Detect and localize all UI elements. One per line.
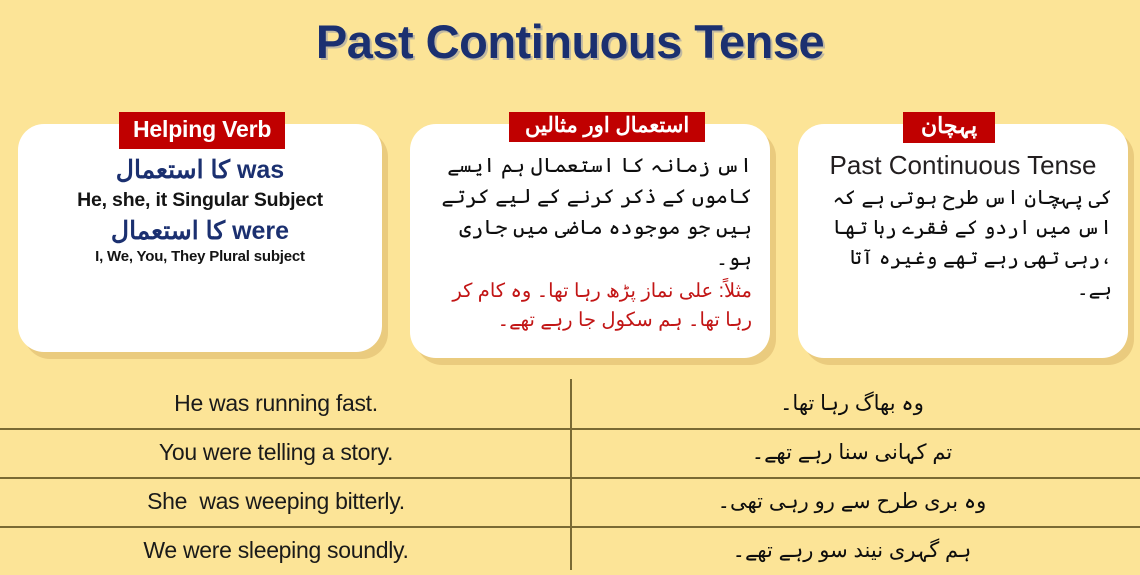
card-badge-identification: پہچان	[903, 112, 995, 143]
helping-verb-was: was	[237, 156, 284, 184]
helping-verb-was-line: was کا استعمال	[32, 156, 368, 186]
identification-description-urdu: کی پہچان اس طرح ہوتی ہے کہ اس میں اردو ک…	[814, 183, 1112, 305]
usage-description-urdu: اس زمانہ کا استعمال ہم ایسے کاموں کے ذکر…	[428, 150, 752, 275]
example-english: She was weeping bitterly.	[0, 477, 552, 526]
examples-table: He was running fast. وہ بھاگ رہا تھا۔ Yo…	[0, 379, 1140, 570]
example-english: You were telling a story.	[0, 428, 552, 477]
helping-verb-were-line: were کا استعمال	[32, 217, 368, 247]
page-title: Past Continuous Tense	[0, 14, 1140, 69]
example-urdu: تم کہانی سنا رہے تھے۔	[582, 428, 1122, 477]
helping-verb-were: were	[232, 217, 289, 245]
helping-verb-was-urdu: کا استعمال	[116, 156, 230, 184]
table-row: He was running fast. وہ بھاگ رہا تھا۔	[0, 379, 1140, 428]
card-usage-examples: اس زمانہ کا استعمال ہم ایسے کاموں کے ذکر…	[410, 124, 770, 358]
concept-cards: Helping Verb was کا استعمال He, she, it …	[0, 112, 1140, 362]
example-english: We were sleeping soundly.	[0, 526, 552, 575]
example-urdu: ہم گہری نیند سو رہے تھے۔	[582, 526, 1122, 575]
table-row: You were telling a story. تم کہانی سنا ر…	[0, 428, 1140, 477]
singular-subjects: He, she, it Singular Subject	[32, 186, 368, 215]
example-urdu: وہ بری طرح سے رو رہی تھی۔	[582, 477, 1122, 526]
table-row: She was weeping bitterly. وہ بری طرح سے …	[0, 477, 1140, 526]
helping-verb-were-urdu: کا استعمال	[111, 217, 225, 245]
usage-examples-urdu: مثلاً: علی نماز پڑھ رہا تھا۔ وہ کام کر ر…	[428, 277, 752, 336]
plural-subjects: I, We, You, They Plural subject	[32, 246, 368, 269]
card-badge-usage-examples: استعمال اور مثالیں	[509, 112, 705, 142]
identification-tense-name: Past Continuous Tense	[814, 151, 1112, 180]
card-badge-helping-verb: Helping Verb	[119, 112, 285, 149]
example-urdu: وہ بھاگ رہا تھا۔	[582, 379, 1122, 428]
card-identification: Past Continuous Tense کی پہچان اس طرح ہو…	[798, 124, 1128, 358]
table-row: We were sleeping soundly. ہم گہری نیند س…	[0, 526, 1140, 575]
card-helping-verb: was کا استعمال He, she, it Singular Subj…	[18, 124, 382, 352]
example-english: He was running fast.	[0, 379, 552, 428]
